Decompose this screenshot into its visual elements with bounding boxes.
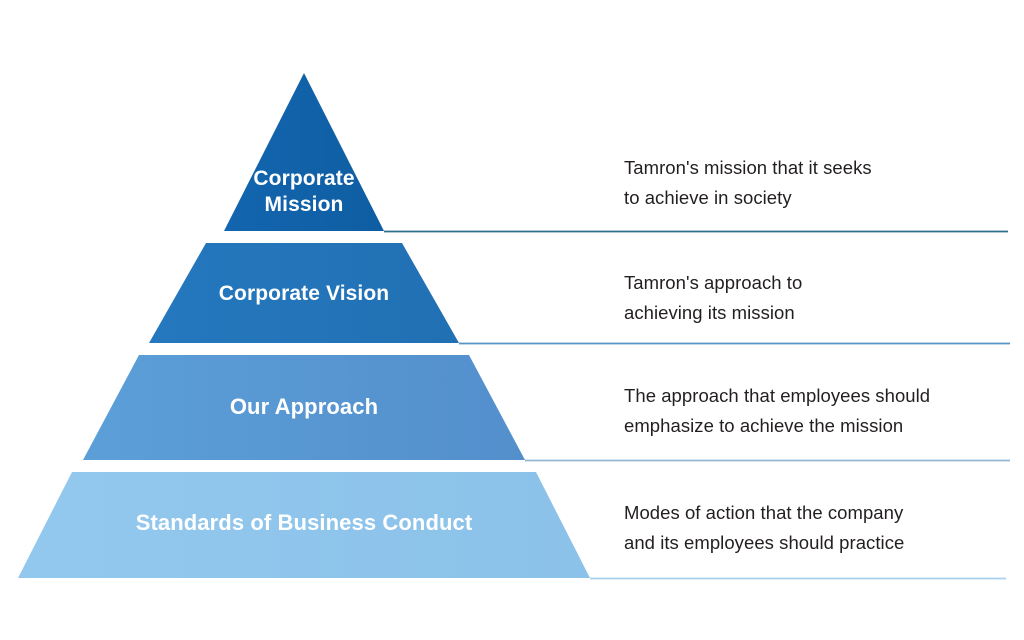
pyramid-tier-4-description: Modes of action that the company and its…: [624, 498, 1014, 558]
pyramid-tier-2-description: Tamron's approach to achieving its missi…: [624, 268, 1004, 328]
pyramid-tier-3-description: The approach that employees should empha…: [624, 381, 1014, 441]
pyramid-diagram: Corporate Mission Corporate Vision Our A…: [0, 0, 1024, 640]
pyramid-tier-2-label: Corporate Vision: [144, 281, 464, 307]
pyramid-tier-3-label: Our Approach: [134, 394, 474, 421]
pyramid-tier-1-description: Tamron's mission that it seeks to achiev…: [624, 153, 1004, 213]
pyramid-tier-4-label: Standards of Business Conduct: [64, 510, 544, 537]
pyramid-tier-1-label: Corporate Mission: [174, 166, 434, 217]
